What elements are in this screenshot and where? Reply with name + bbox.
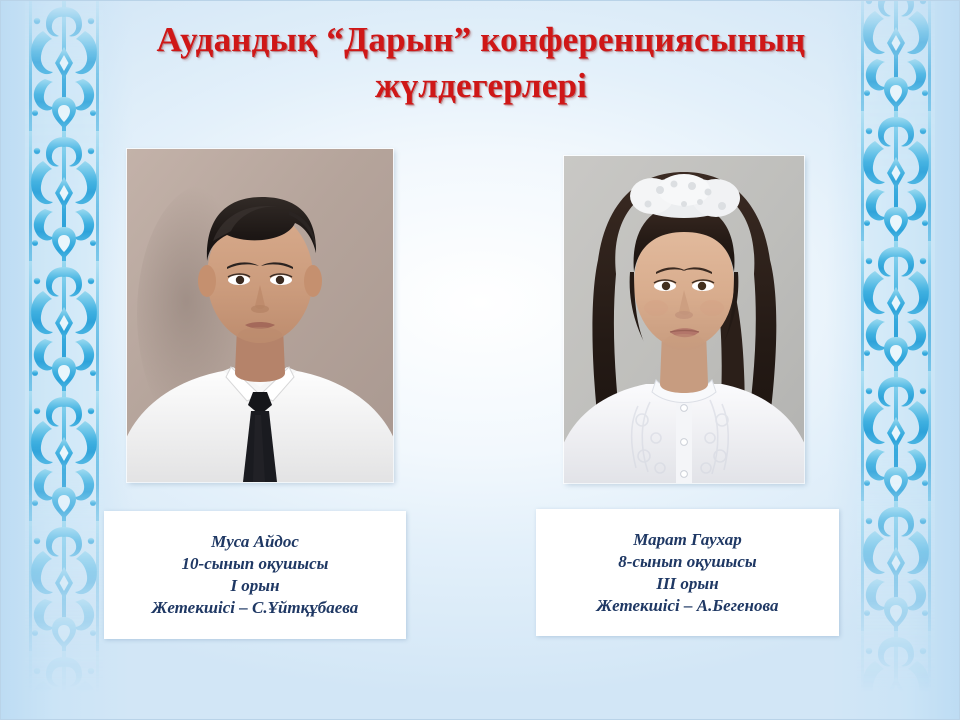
awardee-photo-1 xyxy=(127,149,393,482)
awardee-photo-2 xyxy=(564,156,804,483)
awardee-place-2: III орын xyxy=(656,573,718,595)
awardee-mentor-1: Жетекшісі – С.Ұйтқұбаева xyxy=(152,597,359,619)
slide-canvas: Аудандық “Дарын” конференциясының жүлдег… xyxy=(0,0,960,720)
awardee-caption-1: Муса Айдос 10-сынып оқушысы I орын Жетек… xyxy=(104,511,406,639)
slide-title: Аудандық “Дарын” конференциясының жүлдег… xyxy=(61,17,901,109)
awardee-place-1: I орын xyxy=(230,575,279,597)
awardee-grade-1: 10-сынып оқушысы xyxy=(182,553,329,575)
awardee-name-2: Марат Гаухар xyxy=(633,529,742,551)
awardee-mentor-2: Жетекшісі – А.Бегенова xyxy=(597,595,779,617)
awardee-caption-2: Марат Гаухар 8-сынып оқушысы III орын Же… xyxy=(536,509,839,636)
awardee-name-1: Муса Айдос xyxy=(211,531,299,553)
awardee-grade-2: 8-сынып оқушысы xyxy=(618,551,756,573)
